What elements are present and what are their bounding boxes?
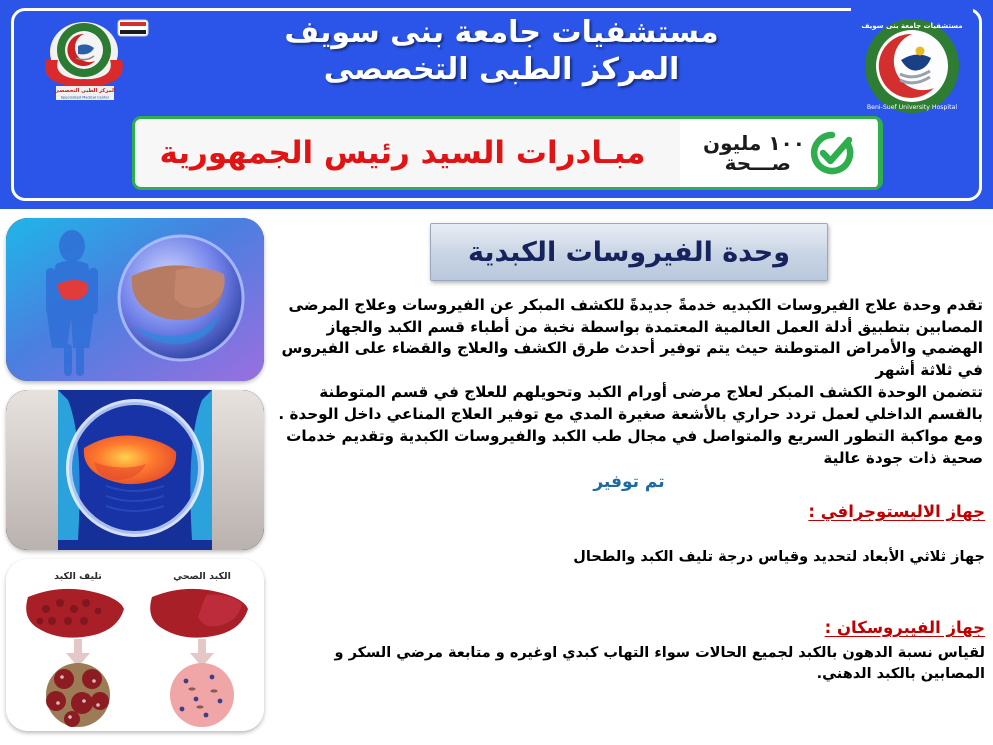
- liver-anatomy-illustration: [6, 218, 264, 381]
- presidential-initiative-banner: مبـادرات السيد رئيس الجمهورية ١٠٠ مليون …: [132, 116, 883, 190]
- elastography-device-heading: جهاز الاليستوجرافي :: [808, 502, 985, 521]
- header-title-line-1: مستشفيات جامعة بنى سويف: [170, 14, 833, 51]
- header-banner: المركز الطبى التخصصى Specialized Medical…: [0, 0, 993, 209]
- svg-text:مستشفيات جامعة بنى سويف: مستشفيات جامعة بنى سويف: [861, 22, 962, 30]
- thermal-liver-scan-illustration: [6, 390, 264, 550]
- unit-title-box: وحدة الفيروسات الكبدية: [430, 223, 828, 281]
- elastography-device-description: جهاز ثلاثي الأبعاد لتحديد وقياس درجة تلي…: [273, 547, 985, 568]
- svg-text:Beni-Suef University Hospital: Beni-Suef University Hospital: [867, 104, 957, 111]
- beni-suef-university-hospital-logo: مستشفيات جامعة بنى سويف Beni-Suef Univer…: [851, 8, 973, 120]
- hundred-million-health-badge: ١٠٠ مليون صـــحة: [680, 119, 880, 187]
- content-area: الكبد الصحي تليف الكبد: [0, 209, 993, 745]
- header-title-group: مستشفيات جامعة بنى سويف المركز الطبى الت…: [170, 14, 833, 88]
- fibroscan-device-heading: جهاز الفيبروسكان :: [825, 618, 985, 637]
- provided-label: تم توفير: [273, 472, 985, 492]
- svg-text:تليف الكبد: تليف الكبد: [54, 571, 102, 582]
- green-check-circle-icon: [809, 130, 855, 176]
- device-heading-row-2: جهاز الفيبروسكان :: [273, 614, 985, 637]
- healthy-vs-cirrhotic-liver-diagram: الكبد الصحي تليف الكبد: [6, 559, 264, 731]
- section-spacer: [273, 568, 985, 614]
- text-column: وحدة الفيروسات الكبدية تقدم وحدة علاج ال…: [273, 215, 985, 685]
- fibroscan-device-description: لقياس نسبة الدهون بالكبد لجميع الحالات س…: [273, 643, 985, 685]
- photo-column: الكبد الصحي تليف الكبد: [6, 218, 264, 731]
- intro-paragraph-3: ومع مواكبة التطور السريع والمتواصل في مج…: [273, 426, 985, 469]
- header-title-line-2: المركز الطبى التخصصى: [170, 51, 833, 88]
- unit-title: وحدة الفيروسات الكبدية: [468, 237, 790, 268]
- svg-text:الكبد الصحي: الكبد الصحي: [173, 571, 231, 582]
- badge-text-group: ١٠٠ مليون صـــحة: [703, 133, 805, 174]
- svg-text:Specialized Medical Center: Specialized Medical Center: [61, 96, 110, 100]
- intro-paragraph-2: تتضمن الوحدة الكشف المبكر لعلاج مرضى أور…: [273, 382, 985, 425]
- badge-line-1: ١٠٠ مليون: [703, 133, 805, 153]
- badge-line-2: صـــحة: [725, 153, 805, 173]
- initiative-label: مبـادرات السيد رئيس الجمهورية: [135, 135, 680, 171]
- specialized-medical-center-logo: المركز الطبى التخصصى Specialized Medical…: [26, 12, 154, 108]
- intro-paragraph-1: تقدم وحدة علاج الفيروسات الكبديه خدمةً ج…: [273, 295, 985, 381]
- device-heading-row-1: جهاز الاليستوجرافي :: [273, 498, 985, 521]
